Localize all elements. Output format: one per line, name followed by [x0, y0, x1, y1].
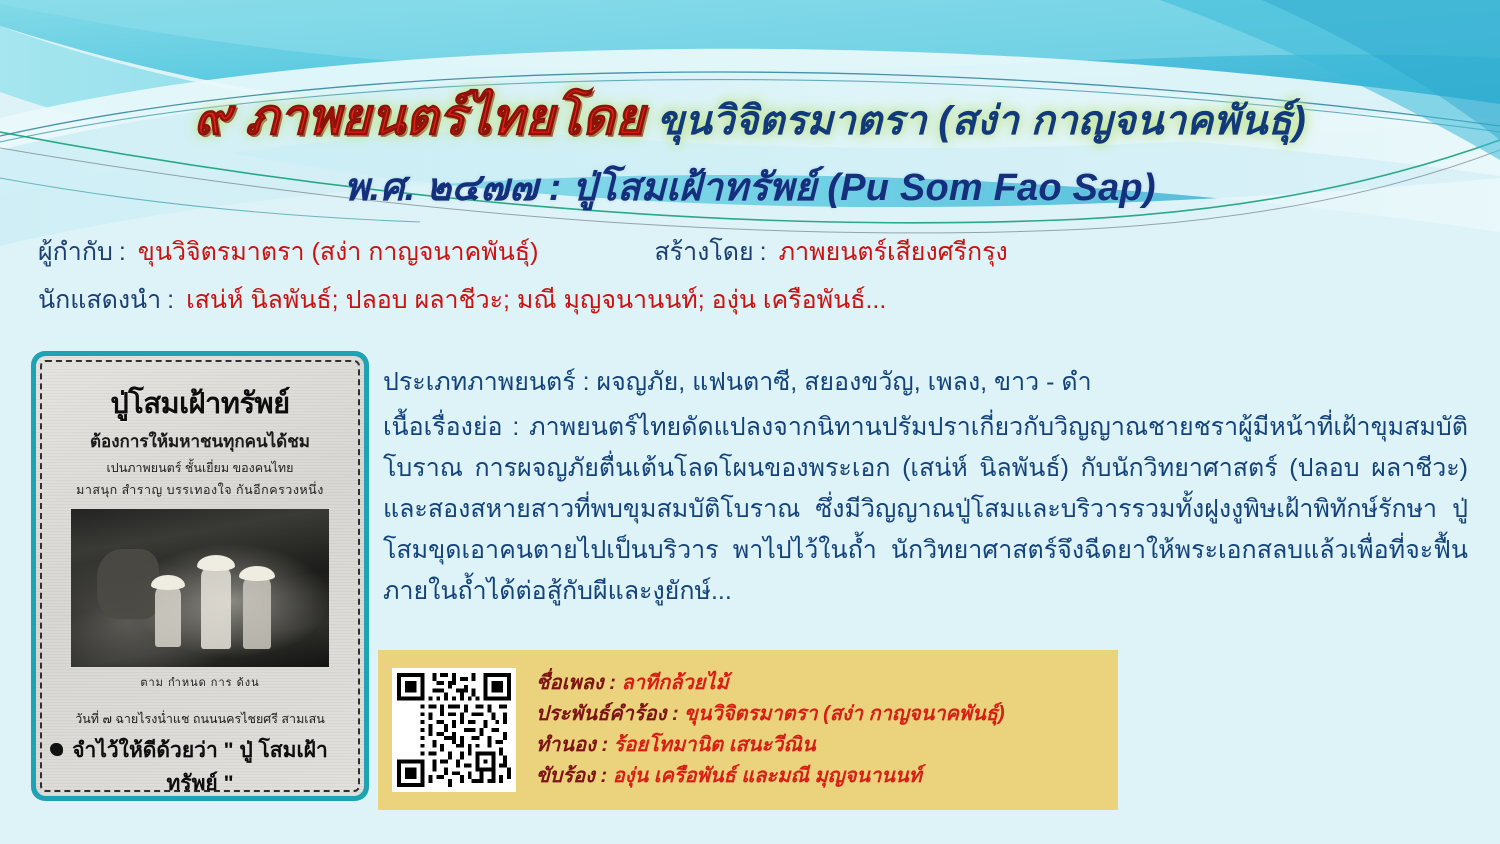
credit-producer: สร้างโดย : ภาพยนตร์เสียงศรีกรุง: [654, 232, 1007, 272]
poster-photo: [71, 509, 329, 667]
page-title: ๙ ภาพยนตร์ไทยโดยขุนวิจิตรมาตรา (สง่า กาญ…: [0, 78, 1500, 157]
colon-separator: :: [601, 734, 608, 756]
song-row-singer: ขับร้อง : องุ่น เครือพันธ์ และมณี มุญจนา…: [536, 761, 1104, 792]
song-row-name: ชื่อเพลง : ลาทีกล้วยไม้: [536, 668, 1104, 699]
synopsis-value: ภาพยนตร์ไทยดัดแปลงจากนิทานปรัมปราเกี่ยวก…: [383, 413, 1468, 605]
song-melody-value: ร้อยโทมานิต เสนะวีณิน: [614, 734, 816, 756]
colon-separator: :: [760, 238, 767, 267]
photo-hat-1: [151, 575, 185, 590]
credit-row-director-producer: ผู้กำกับ : ขุนวิจิตรมาตรา (สง่า กาญจนาคพ…: [38, 232, 1468, 272]
producer-value: ภาพยนตร์เสียงศรีกรุง: [779, 232, 1008, 272]
colon-separator: :: [167, 286, 174, 315]
colon-separator: :: [512, 413, 519, 441]
colon-separator: :: [583, 368, 590, 396]
qr-code-icon[interactable]: [392, 668, 516, 792]
poster-title: ปู่โสมเฝ้าทรัพย์: [48, 380, 352, 426]
title-blue-text: ขุนวิจิตรมาตรา (สง่า กาญจนาคพันธุ์): [657, 99, 1306, 143]
colon-separator: :: [672, 703, 679, 725]
credit-director: ผู้กำกับ : ขุนวิจิตรมาตรา (สง่า กาญจนาคพ…: [38, 232, 538, 272]
song-info-box: ชื่อเพลง : ลาทีกล้วยไม้ ประพันธ์คำร้อง :…: [378, 650, 1118, 810]
poster-bottom-line-1: วันที่ ๗ ฉายไรงน่ำแช ถนนนครไชยศรี สามเสน: [48, 709, 352, 729]
genre-label: ประเภทภาพยนตร์: [383, 368, 576, 396]
song-name-value: ลาทีกล้วยไม้: [621, 672, 728, 694]
song-lyrics-value: ขุนวิจิตรมาตรา (สง่า กาญจนาคพันธุ์): [684, 703, 1004, 725]
photo-rock-shape: [97, 549, 159, 619]
poster-line-4: มาสนุก สำราญ บรรเทองใจ กันอีกครวงหนึ่ง: [48, 480, 352, 500]
credit-cast: นักแสดงนำ : เสน่ห์ นิลพันธ์; ปลอบ ผลาชีว…: [38, 280, 886, 320]
song-lyrics-label: ประพันธ์คำร้อง: [536, 703, 666, 725]
photo-figure-1: [155, 585, 181, 647]
genre-line: ประเภทภาพยนตร์ : ผจญภัย, แฟนตาซี, สยองขว…: [383, 362, 1468, 403]
colon-separator: :: [600, 765, 607, 787]
song-singer-label: ขับร้อง: [536, 765, 595, 787]
slide-canvas: ๙ ภาพยนตร์ไทยโดยขุนวิจิตรมาตรา (สง่า กาญ…: [0, 0, 1500, 844]
song-row-lyrics: ประพันธ์คำร้อง : ขุนวิจิตรมาตรา (สง่า กา…: [536, 699, 1104, 730]
synopsis-label: เนื้อเรื่องย่อ: [383, 413, 503, 441]
poster-paper: ปู่โสมเฝ้าทรัพย์ ต้องการให้มหาชนทุกคนได้…: [36, 356, 364, 796]
song-singer-value: องุ่น เครือพันธ์ และมณี มุญจนานนท์: [613, 765, 922, 787]
poster-photo-caption: ตาม กำหนด การ ด้งน: [48, 673, 352, 691]
genre-value: ผจญภัย, แฟนตาซี, สยองขวัญ, เพลง, ขาว - ด…: [597, 368, 1092, 396]
movie-description: ประเภทภาพยนตร์ : ผจญภัย, แฟนตาซี, สยองขว…: [383, 362, 1468, 612]
photo-figure-3: [243, 575, 271, 649]
title-red-text: ๙ ภาพยนตร์ไทยโดย: [194, 89, 645, 145]
cast-value: เสน่ห์ นิลพันธ์; ปลอบ ผลาชีวะ; มณี มุญจน…: [186, 280, 886, 320]
poster-line-3: เปนภาพยนตร์ ชั้นเยี่ยม ของคนไทย: [48, 458, 352, 478]
director-label: ผู้กำกับ: [38, 232, 113, 272]
cast-label: นักแสดงนำ: [38, 280, 161, 320]
poster-line-2: ต้องการให้มหาชนทุกคนได้ชม: [48, 428, 352, 455]
colon-separator: :: [119, 238, 126, 267]
song-row-melody: ทำนอง : ร้อยโทมานิต เสนะวีณิน: [536, 730, 1104, 761]
colon-separator: :: [609, 672, 616, 694]
song-detail-list: ชื่อเพลง : ลาทีกล้วยไม้ ประพันธ์คำร้อง :…: [536, 668, 1104, 792]
director-value: ขุนวิจิตรมาตรา (สง่า กาญจนาคพันธุ์): [138, 232, 539, 272]
page-subtitle: พ.ศ. ๒๔๗๗ : ปู่โสมเฝ้าทรัพย์ (Pu Som Fao…: [0, 156, 1500, 217]
song-melody-label: ทำนอง: [536, 734, 596, 756]
qr-code-svg: [397, 673, 511, 787]
movie-poster: ปู่โสมเฝ้าทรัพย์ ต้องการให้มหาชนทุกคนได้…: [31, 351, 369, 801]
song-name-label: ชื่อเพลง: [536, 672, 604, 694]
synopsis-line: เนื้อเรื่องย่อ : ภาพยนตร์ไทยดัดแปลงจากนิ…: [383, 407, 1468, 612]
poster-bottom-line-2: จำไว้ให้ดีด้วยว่า " ปู่ โสมเฝ้าทรัพย์ ": [48, 734, 352, 796]
credits-block: ผู้กำกับ : ขุนวิจิตรมาตรา (สง่า กาญจนาคพ…: [38, 232, 1468, 328]
photo-figure-2: [201, 565, 231, 649]
producer-label: สร้างโดย: [654, 232, 753, 272]
photo-hat-2: [197, 555, 235, 571]
credit-row-cast: นักแสดงนำ : เสน่ห์ นิลพันธ์; ปลอบ ผลาชีว…: [38, 280, 1468, 320]
poster-ink-blot: [50, 743, 63, 756]
photo-hat-3: [239, 566, 275, 581]
